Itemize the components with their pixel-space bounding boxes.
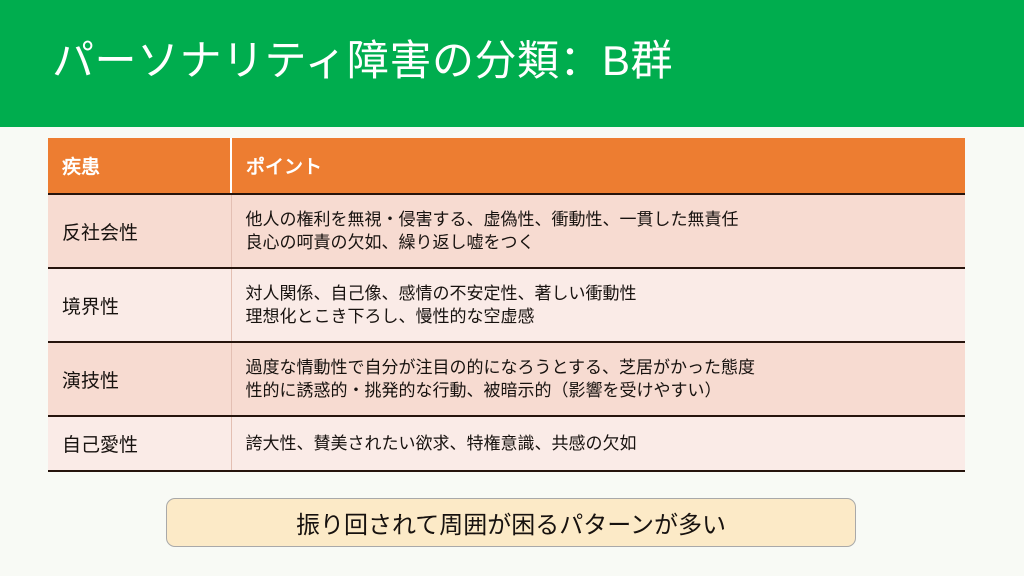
table-body: 反社会性 他人の権利を無視・侵害する、虚偽性、衝動性、一貫した無責任 良心の呵責… — [48, 194, 965, 471]
cell-disease-name: 境界性 — [48, 268, 231, 342]
point-line: 性的に誘惑的・挑発的な行動、被暗示的（影響を受けやすい） — [246, 379, 966, 402]
cell-disease-points: 過度な情動性で自分が注目の的になろうとする、芝居がかった態度 性的に誘惑的・挑発… — [231, 342, 965, 416]
cell-disease-name: 反社会性 — [48, 194, 231, 268]
slide: パーソナリティ障害の分類：B群 疾患 ポイント 反社会性 他人の権利を無視・侵害… — [0, 0, 1024, 576]
point-line: 対人関係、自己像、感情の不安定性、著しい衝動性 — [246, 282, 966, 305]
page-title: パーソナリティ障害の分類：B群 — [52, 33, 673, 89]
point-line: 誇大性、賛美されたい欲求、特権意識、共感の欠如 — [246, 432, 966, 455]
table-row: 演技性 過度な情動性で自分が注目の的になろうとする、芝居がかった態度 性的に誘惑… — [48, 342, 965, 416]
summary-callout: 振り回されて周囲が困るパターンが多い — [166, 498, 856, 547]
point-line: 理想化とこき下ろし、慢性的な空虚感 — [246, 305, 966, 328]
disorders-table: 疾患 ポイント 反社会性 他人の権利を無視・侵害する、虚偽性、衝動性、一貫した無… — [48, 138, 965, 472]
column-header-points: ポイント — [231, 138, 965, 194]
table-row: 境界性 対人関係、自己像、感情の不安定性、著しい衝動性 理想化とこき下ろし、慢性… — [48, 268, 965, 342]
disorders-table-container: 疾患 ポイント 反社会性 他人の権利を無視・侵害する、虚偽性、衝動性、一貫した無… — [48, 138, 965, 472]
title-banner: パーソナリティ障害の分類：B群 — [0, 0, 1024, 127]
table-header-row: 疾患 ポイント — [48, 138, 965, 194]
cell-disease-points: 対人関係、自己像、感情の不安定性、著しい衝動性 理想化とこき下ろし、慢性的な空虚… — [231, 268, 965, 342]
point-line: 良心の呵責の欠如、繰り返し嘘をつく — [246, 231, 966, 254]
table-row: 自己愛性 誇大性、賛美されたい欲求、特権意識、共感の欠如 — [48, 416, 965, 471]
summary-callout-text: 振り回されて周囲が困るパターンが多い — [296, 505, 726, 540]
point-line: 他人の権利を無視・侵害する、虚偽性、衝動性、一貫した無責任 — [246, 208, 966, 231]
point-line: 過度な情動性で自分が注目の的になろうとする、芝居がかった態度 — [246, 356, 966, 379]
column-header-disease: 疾患 — [48, 138, 231, 194]
table-row: 反社会性 他人の権利を無視・侵害する、虚偽性、衝動性、一貫した無責任 良心の呵責… — [48, 194, 965, 268]
cell-disease-points: 誇大性、賛美されたい欲求、特権意識、共感の欠如 — [231, 416, 965, 471]
cell-disease-points: 他人の権利を無視・侵害する、虚偽性、衝動性、一貫した無責任 良心の呵責の欠如、繰… — [231, 194, 965, 268]
table-header: 疾患 ポイント — [48, 138, 965, 194]
cell-disease-name: 自己愛性 — [48, 416, 231, 471]
cell-disease-name: 演技性 — [48, 342, 231, 416]
